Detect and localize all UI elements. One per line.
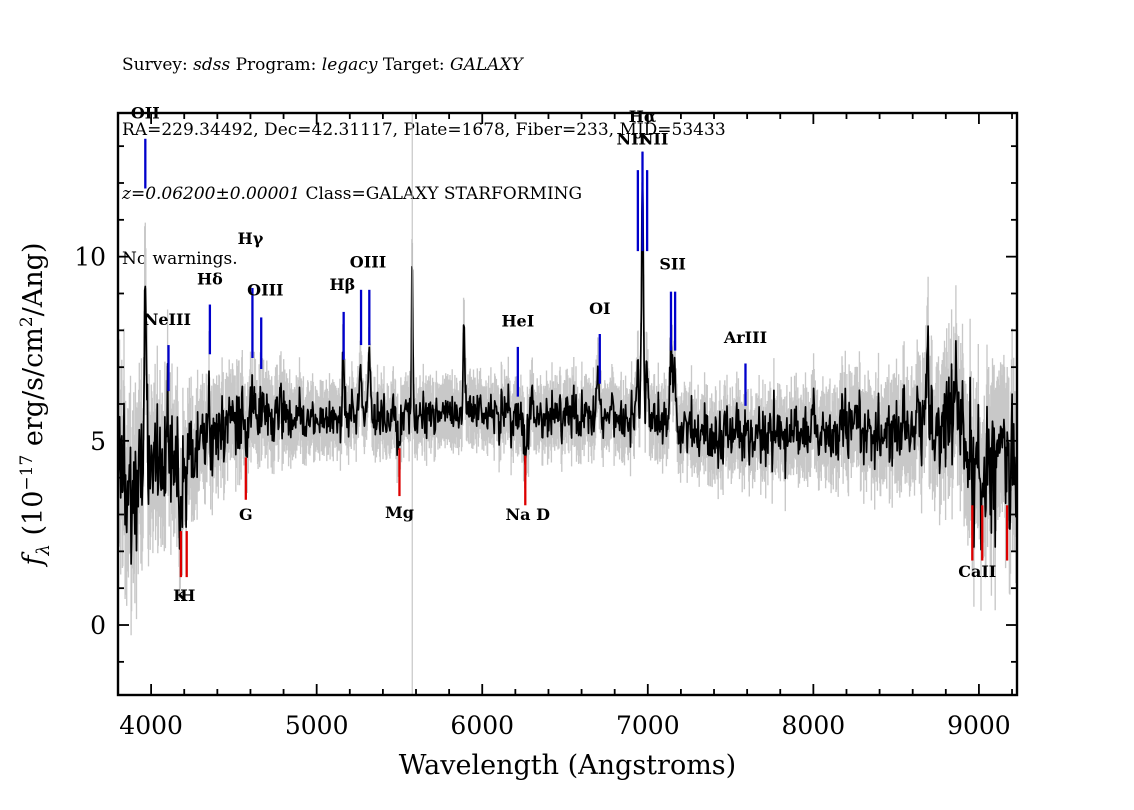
x-tick-label: 7000	[616, 711, 680, 740]
emission-line-label: OIII	[350, 253, 386, 272]
emission-line-label: ArIII	[723, 328, 767, 347]
emission-line-label: NII	[639, 129, 669, 148]
y-tick-label: 0	[90, 611, 106, 640]
y-tick-label: 10	[74, 243, 106, 272]
emission-line-oii-0: OII	[131, 104, 160, 189]
x-tick-label: 6000	[450, 711, 514, 740]
absorption-line-label: CaII	[958, 562, 996, 581]
emission-line-label: Hγ	[238, 229, 264, 248]
absorption-line-label: H	[180, 586, 195, 605]
emission-line-label: Hα	[629, 107, 656, 126]
x-tick-label: 9000	[947, 711, 1011, 740]
emission-line-label: Hδ	[197, 269, 223, 288]
spectrum-svg: OIINeIIIHδHγOIIIHβOIIIHeIOINIIHαNIISIIAr…	[0, 0, 1134, 810]
emission-line-oi-8: OI	[589, 299, 610, 384]
emission-line-label: NeIII	[144, 310, 191, 329]
emission-line-oiii-6: OIII	[350, 253, 386, 345]
y-axis-title: fλ (10−17 erg/s/cm2/Ang)	[17, 243, 54, 568]
emission-line-hδ-2: Hδ	[197, 269, 223, 354]
x-axis-title: Wavelength (Angstroms)	[399, 750, 736, 781]
emission-line-ariii-13: ArIII	[723, 328, 767, 406]
x-tick-label: 4000	[119, 711, 183, 740]
emission-line-label: OIII	[247, 280, 283, 299]
x-tick-label: 5000	[285, 711, 349, 740]
x-tick-label: 8000	[782, 711, 846, 740]
emission-line-label: Hβ	[329, 275, 355, 294]
y-tick-label: 5	[90, 427, 106, 456]
spectrum-plot: OIINeIIIHδHγOIIIHβOIIIHeIOINIIHαNIISIIAr…	[0, 0, 1134, 810]
absorption-line-label: G	[239, 505, 253, 524]
svg-text:fλ (10−17 erg/s/cm2/Ang): fλ (10−17 erg/s/cm2/Ang)	[17, 243, 54, 568]
absorption-line-label: Mg	[385, 503, 414, 522]
emission-line-label: HeI	[501, 312, 534, 331]
emission-line-label: SII	[659, 255, 686, 274]
emission-line-label: OI	[589, 299, 610, 318]
absorption-line-label: Na D	[506, 505, 551, 524]
